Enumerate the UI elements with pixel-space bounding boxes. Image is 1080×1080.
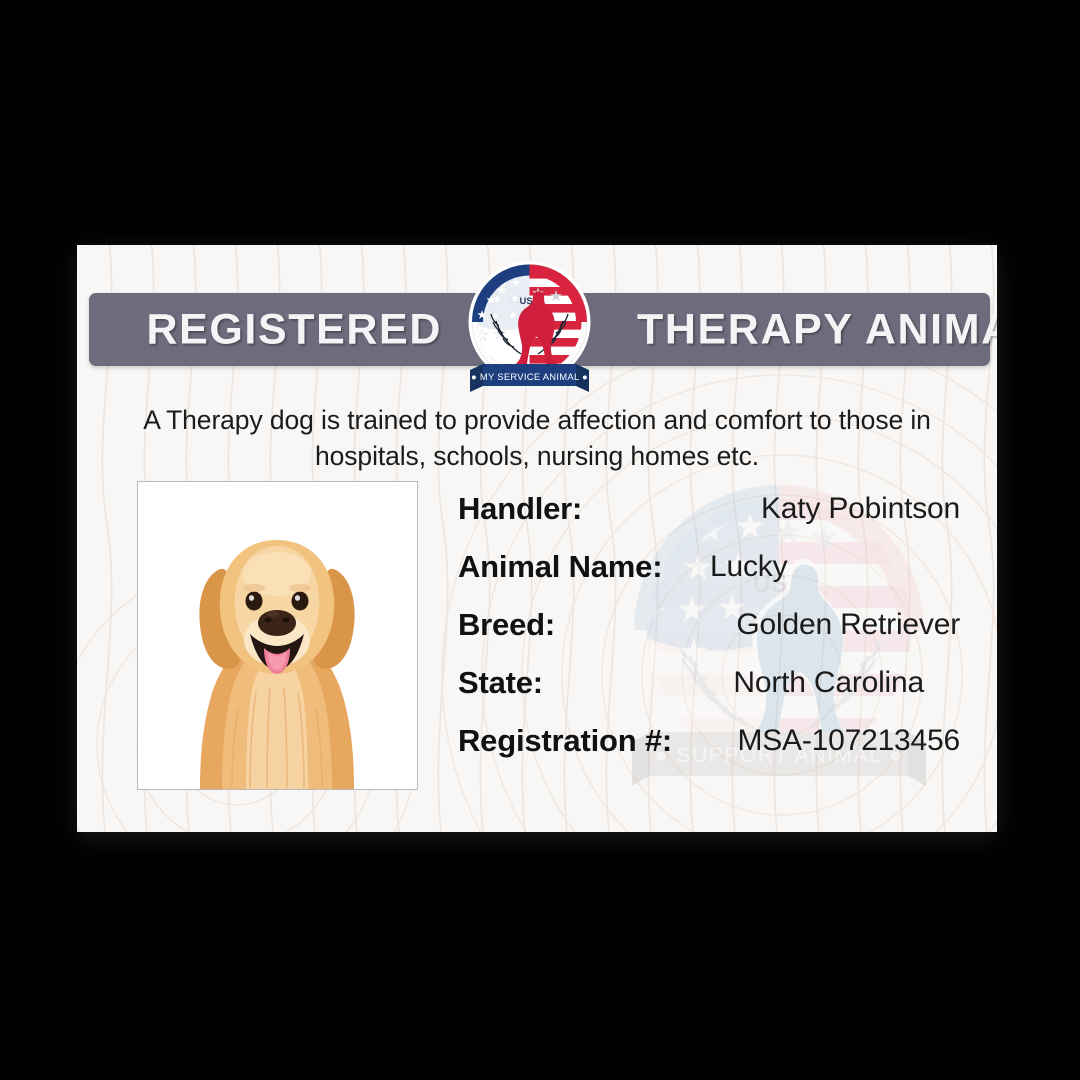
- field-value-breed: Golden Retriever: [736, 608, 960, 642]
- card-fields: Handler: Katy Pobintson Animal Name: Luc…: [458, 491, 960, 781]
- header-right-word: THERAPY ANIMAL: [637, 305, 997, 354]
- field-label-handler: Handler:: [458, 491, 582, 527]
- my-service-animal-logo: USA: [458, 259, 601, 399]
- field-label-registration: Registration #:: [458, 723, 672, 759]
- logo-ribbon: ● MY SERVICE ANIMAL ●: [470, 364, 589, 392]
- field-row-breed: Breed: Golden Retriever: [458, 607, 960, 665]
- logo-ribbon-text: ● MY SERVICE ANIMAL ●: [471, 371, 588, 382]
- animal-photo: [138, 482, 417, 789]
- field-label-animal-name: Animal Name:: [458, 549, 662, 585]
- field-row-handler: Handler: Katy Pobintson: [458, 491, 960, 549]
- screenshot-canvas: USA: [0, 0, 1080, 1080]
- field-row-animal-name: Animal Name: Lucky: [458, 549, 960, 607]
- animal-photo-frame: [137, 481, 418, 790]
- field-row-registration: Registration #: MSA-107213456: [458, 723, 960, 781]
- field-value-registration: MSA-107213456: [737, 724, 960, 758]
- header-left-word: REGISTERED: [146, 305, 442, 354]
- card-description: A Therapy dog is trained to provide affe…: [109, 402, 965, 474]
- field-value-animal-name: Lucky: [710, 550, 787, 584]
- field-row-state: State: North Carolina: [458, 665, 960, 723]
- field-value-handler: Katy Pobintson: [761, 492, 960, 526]
- field-label-state: State:: [458, 665, 543, 701]
- field-value-state: North Carolina: [733, 666, 924, 700]
- therapy-animal-id-card: USA: [77, 245, 997, 832]
- field-label-breed: Breed:: [458, 607, 555, 643]
